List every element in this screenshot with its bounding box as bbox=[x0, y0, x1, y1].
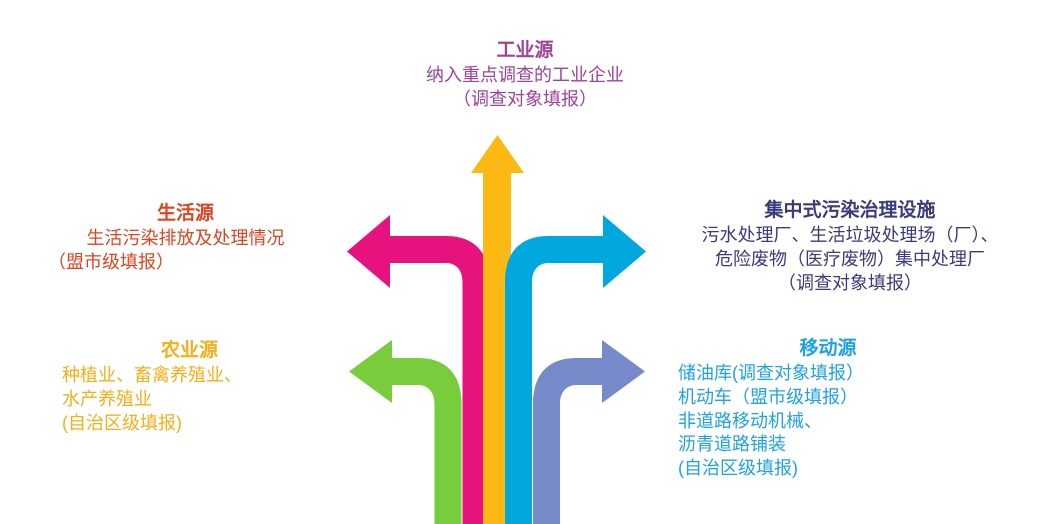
label-line-mobile-5: (自治区级填报) bbox=[678, 457, 978, 481]
label-block-centralized: 集中式污染治理设施 污水处理厂、生活垃圾处理场（厂）、 危险废物（医疗废物）集中… bbox=[655, 198, 1043, 295]
label-block-agriculture: 农业源 种植业、畜禽养殖业、 水产养殖业 (自治区级填报) bbox=[62, 338, 317, 435]
stem-fill-cyan bbox=[505, 470, 532, 504]
label-line-domestic-2: （盟市级填报） bbox=[48, 251, 323, 275]
label-line-centralized-1: 污水处理厂、生活垃圾处理场（厂）、 bbox=[655, 224, 1043, 248]
label-block-domestic: 生活源 生活污染排放及处理情况 （盟市级填报） bbox=[48, 201, 323, 275]
label-line-industrial-1: 纳入重点调查的工业企业 bbox=[330, 64, 720, 88]
label-line-centralized-3: （调查对象填报） bbox=[655, 272, 1043, 296]
label-title-agriculture: 农业源 bbox=[62, 338, 317, 363]
label-line-mobile-3: 非道路移动机械、 bbox=[678, 410, 978, 434]
label-line-mobile-2: 机动车（盟市级填报） bbox=[678, 386, 978, 410]
stem-fill-purple bbox=[533, 470, 560, 504]
label-line-mobile-1: 储油库(调查对象填报） bbox=[678, 362, 978, 386]
label-line-domestic-1: 生活污染排放及处理情况 bbox=[48, 227, 323, 251]
label-block-mobile: 移动源 储油库(调查对象填报） 机动车（盟市级填报） 非道路移动机械、 沥青道路… bbox=[678, 336, 978, 481]
label-line-agriculture-3: (自治区级填报) bbox=[62, 412, 317, 436]
label-block-industrial: 工业源 纳入重点调查的工业企业 （调查对象填报） bbox=[330, 38, 720, 112]
label-title-industrial: 工业源 bbox=[330, 38, 720, 63]
label-title-mobile: 移动源 bbox=[678, 336, 978, 361]
label-title-centralized: 集中式污染治理设施 bbox=[655, 198, 1043, 223]
label-line-agriculture-1: 种植业、畜禽养殖业、 bbox=[62, 364, 317, 388]
label-line-industrial-2: （调查对象填报） bbox=[330, 88, 720, 112]
label-line-mobile-4: 沥青道路铺装 bbox=[678, 433, 978, 457]
label-title-domestic: 生活源 bbox=[48, 201, 323, 226]
label-line-centralized-2: 危险废物（医疗废物）集中处理厂 bbox=[655, 248, 1043, 272]
label-line-agriculture-2: 水产养殖业 bbox=[62, 388, 317, 412]
stem-fill-green bbox=[435, 470, 462, 504]
diagram-canvas: 工业源 纳入重点调查的工业企业 （调查对象填报） 生活源 生活污染排放及处理情况… bbox=[0, 0, 1043, 524]
